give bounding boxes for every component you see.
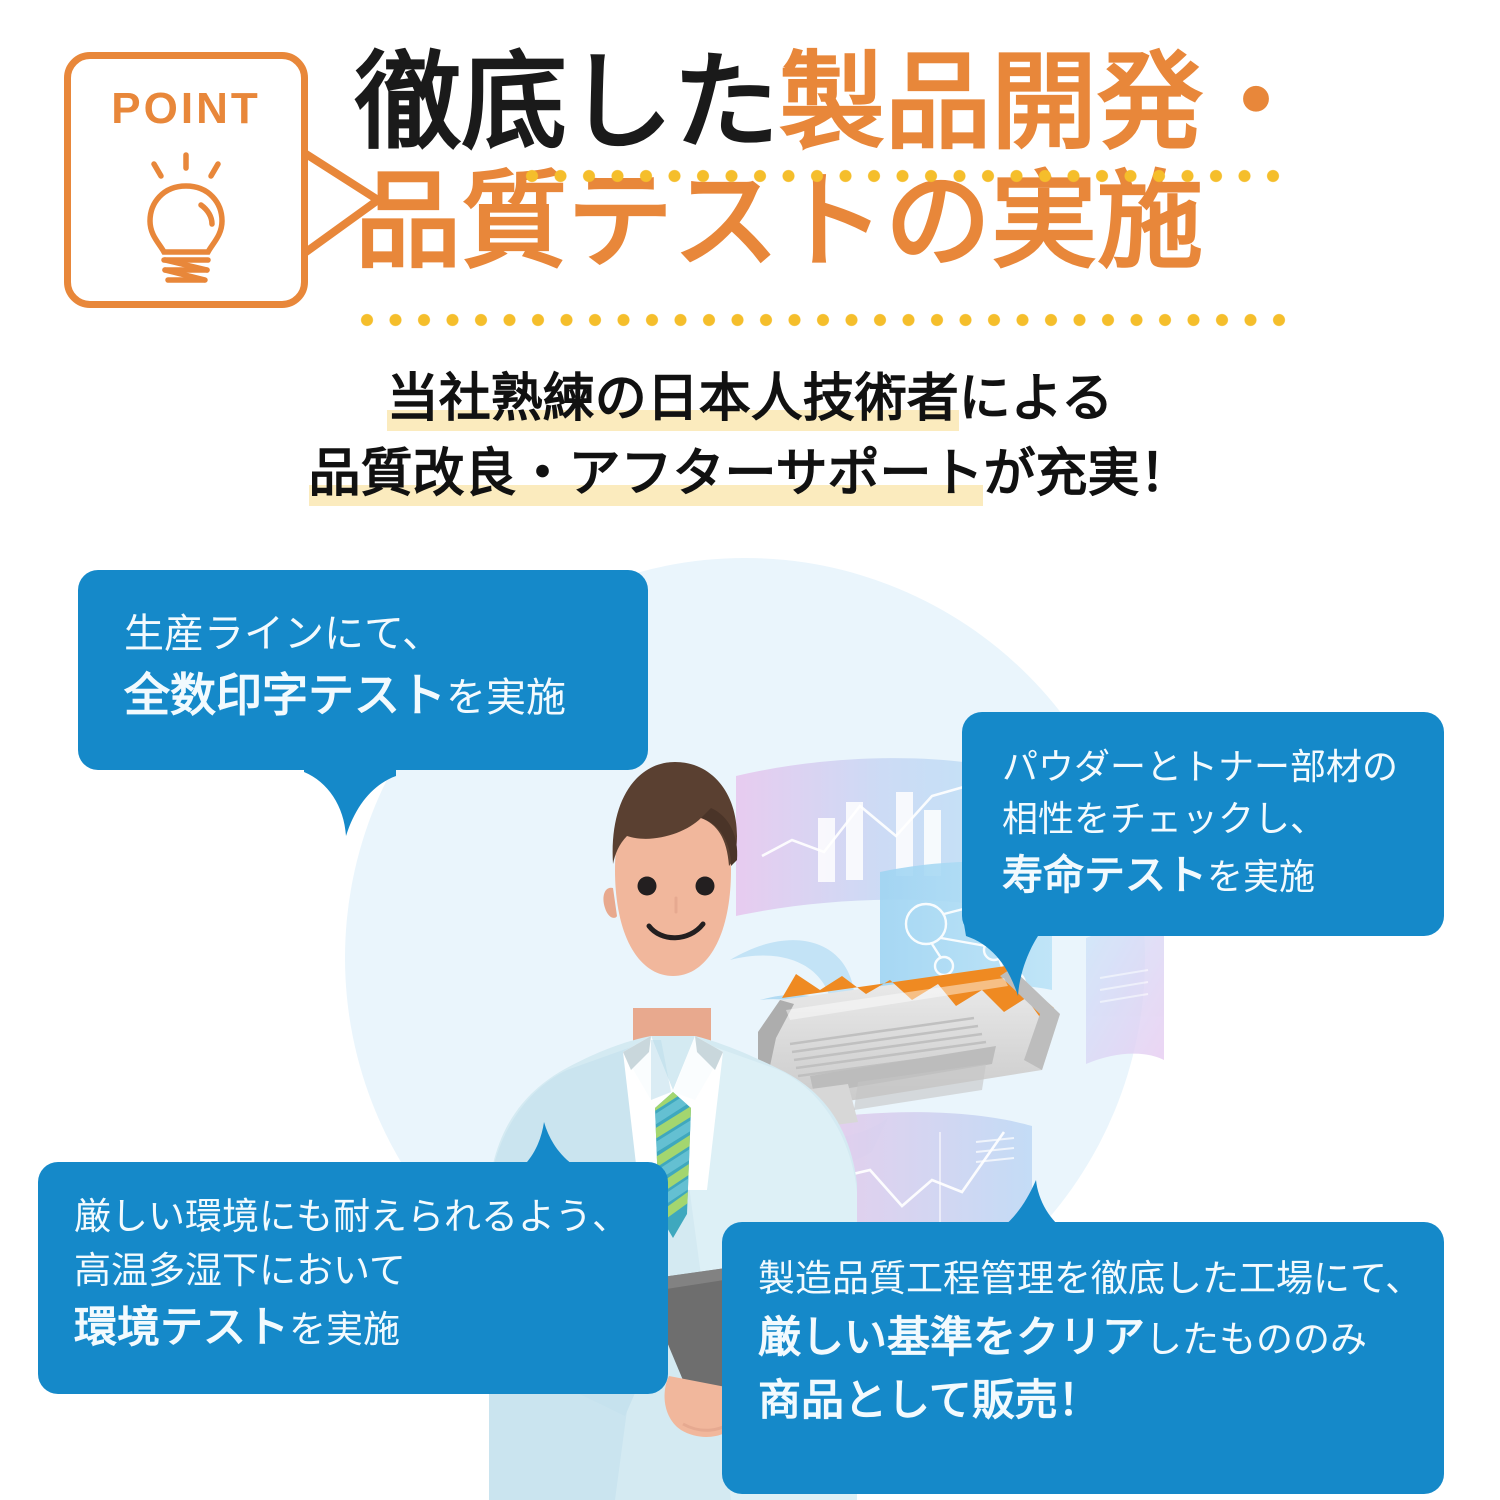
subtitle-line-1: 当社熟練の日本人技術者による [0, 362, 1500, 437]
illustration-stage: 生産ラインにて、 全数印字テストを実施 パウダーとトナー部材の 相性をチェックし… [0, 540, 1500, 1500]
bubble-1-line-2-tail: を実施 [446, 675, 566, 721]
headline-orange-part: 製品開発・ [779, 41, 1309, 164]
headline-black-part: 徹底した [355, 41, 779, 164]
subtitle-highlight-1: 当社熟練の日本人技術者 [387, 369, 959, 431]
page-title: 徹底した製品開発・ 品質テストの実施 [355, 44, 1455, 281]
bubble-3-line-3: 環境テストを実施 [74, 1297, 668, 1359]
bubble-2-emphasis: 寿命テスト [1002, 851, 1207, 899]
bubble-1-line-1: 生産ラインにて、 [124, 606, 648, 663]
bubble-2-line-3-tail: を実施 [1207, 857, 1315, 898]
bubble-3-line-3-tail: を実施 [289, 1308, 400, 1351]
subtitle-plain-2: が充実！ [983, 444, 1191, 504]
bubble-1-emphasis: 全数印字テスト [124, 668, 446, 722]
point-badge: POINT [64, 52, 308, 308]
bubble-3-line-2: 高温多湿下において [74, 1244, 668, 1298]
subtitle-plain-1: による [959, 369, 1113, 429]
bubble-production-line-print-test: 生産ラインにて、 全数印字テストを実施 [78, 570, 648, 770]
lightbulb-icon [127, 150, 245, 300]
bubble-2-line-2: 相性をチェックし、 [1002, 794, 1444, 846]
bubble-factory-quality-standard: 製造品質工程管理を徹底した工場にて、 厳しい基準をクリアしたもののみ 商品として… [722, 1222, 1444, 1494]
side-panel-slivers [1086, 929, 1164, 1064]
dotted-underline-2 [360, 312, 1290, 328]
bubble-4-emphasis-1: 厳しい基準をクリア [758, 1313, 1145, 1363]
bubble-environment-test: 厳しい環境にも耐えられるよう、 高温多湿下において 環境テストを実施 [38, 1162, 668, 1394]
dotted-underline-1 [525, 168, 1290, 184]
subtitle: 当社熟練の日本人技術者による 品質改良・アフターサポートが充実！ [0, 362, 1500, 512]
subtitle-highlight-2: 品質改良・アフターサポート [309, 444, 984, 506]
infographic-page: POINT 徹底した製品開発・ 品質テストの実施 当社熟練の日 [0, 0, 1500, 1500]
bubble-3-emphasis: 環境テスト [74, 1303, 289, 1353]
bubble-1-tail-icon [300, 762, 410, 840]
bubble-2-line-3: 寿命テストを実施 [1002, 846, 1444, 905]
point-badge-label: POINT [64, 84, 308, 134]
bubble-powder-toner-life-test: パウダーとトナー部材の 相性をチェックし、 寿命テストを実施 [962, 712, 1444, 936]
bubble-1-line-2: 全数印字テストを実施 [124, 663, 648, 728]
bubble-4-line-2: 厳しい基準をクリアしたもののみ [758, 1307, 1444, 1371]
subtitle-line-2: 品質改良・アフターサポートが充実！ [0, 437, 1500, 512]
bubble-4-emphasis-2: 商品として販売！ [758, 1370, 1444, 1434]
bubble-2-line-1: パウダーとトナー部材の [1002, 742, 1444, 794]
headline-line-1: 徹底した製品開発・ [355, 44, 1455, 163]
bubble-4-line-2-tail: したもののみ [1145, 1318, 1367, 1361]
bubble-4-line-1: 製造品質工程管理を徹底した工場にて、 [758, 1252, 1444, 1307]
bubble-3-line-1: 厳しい環境にも耐えられるよう、 [74, 1190, 668, 1244]
